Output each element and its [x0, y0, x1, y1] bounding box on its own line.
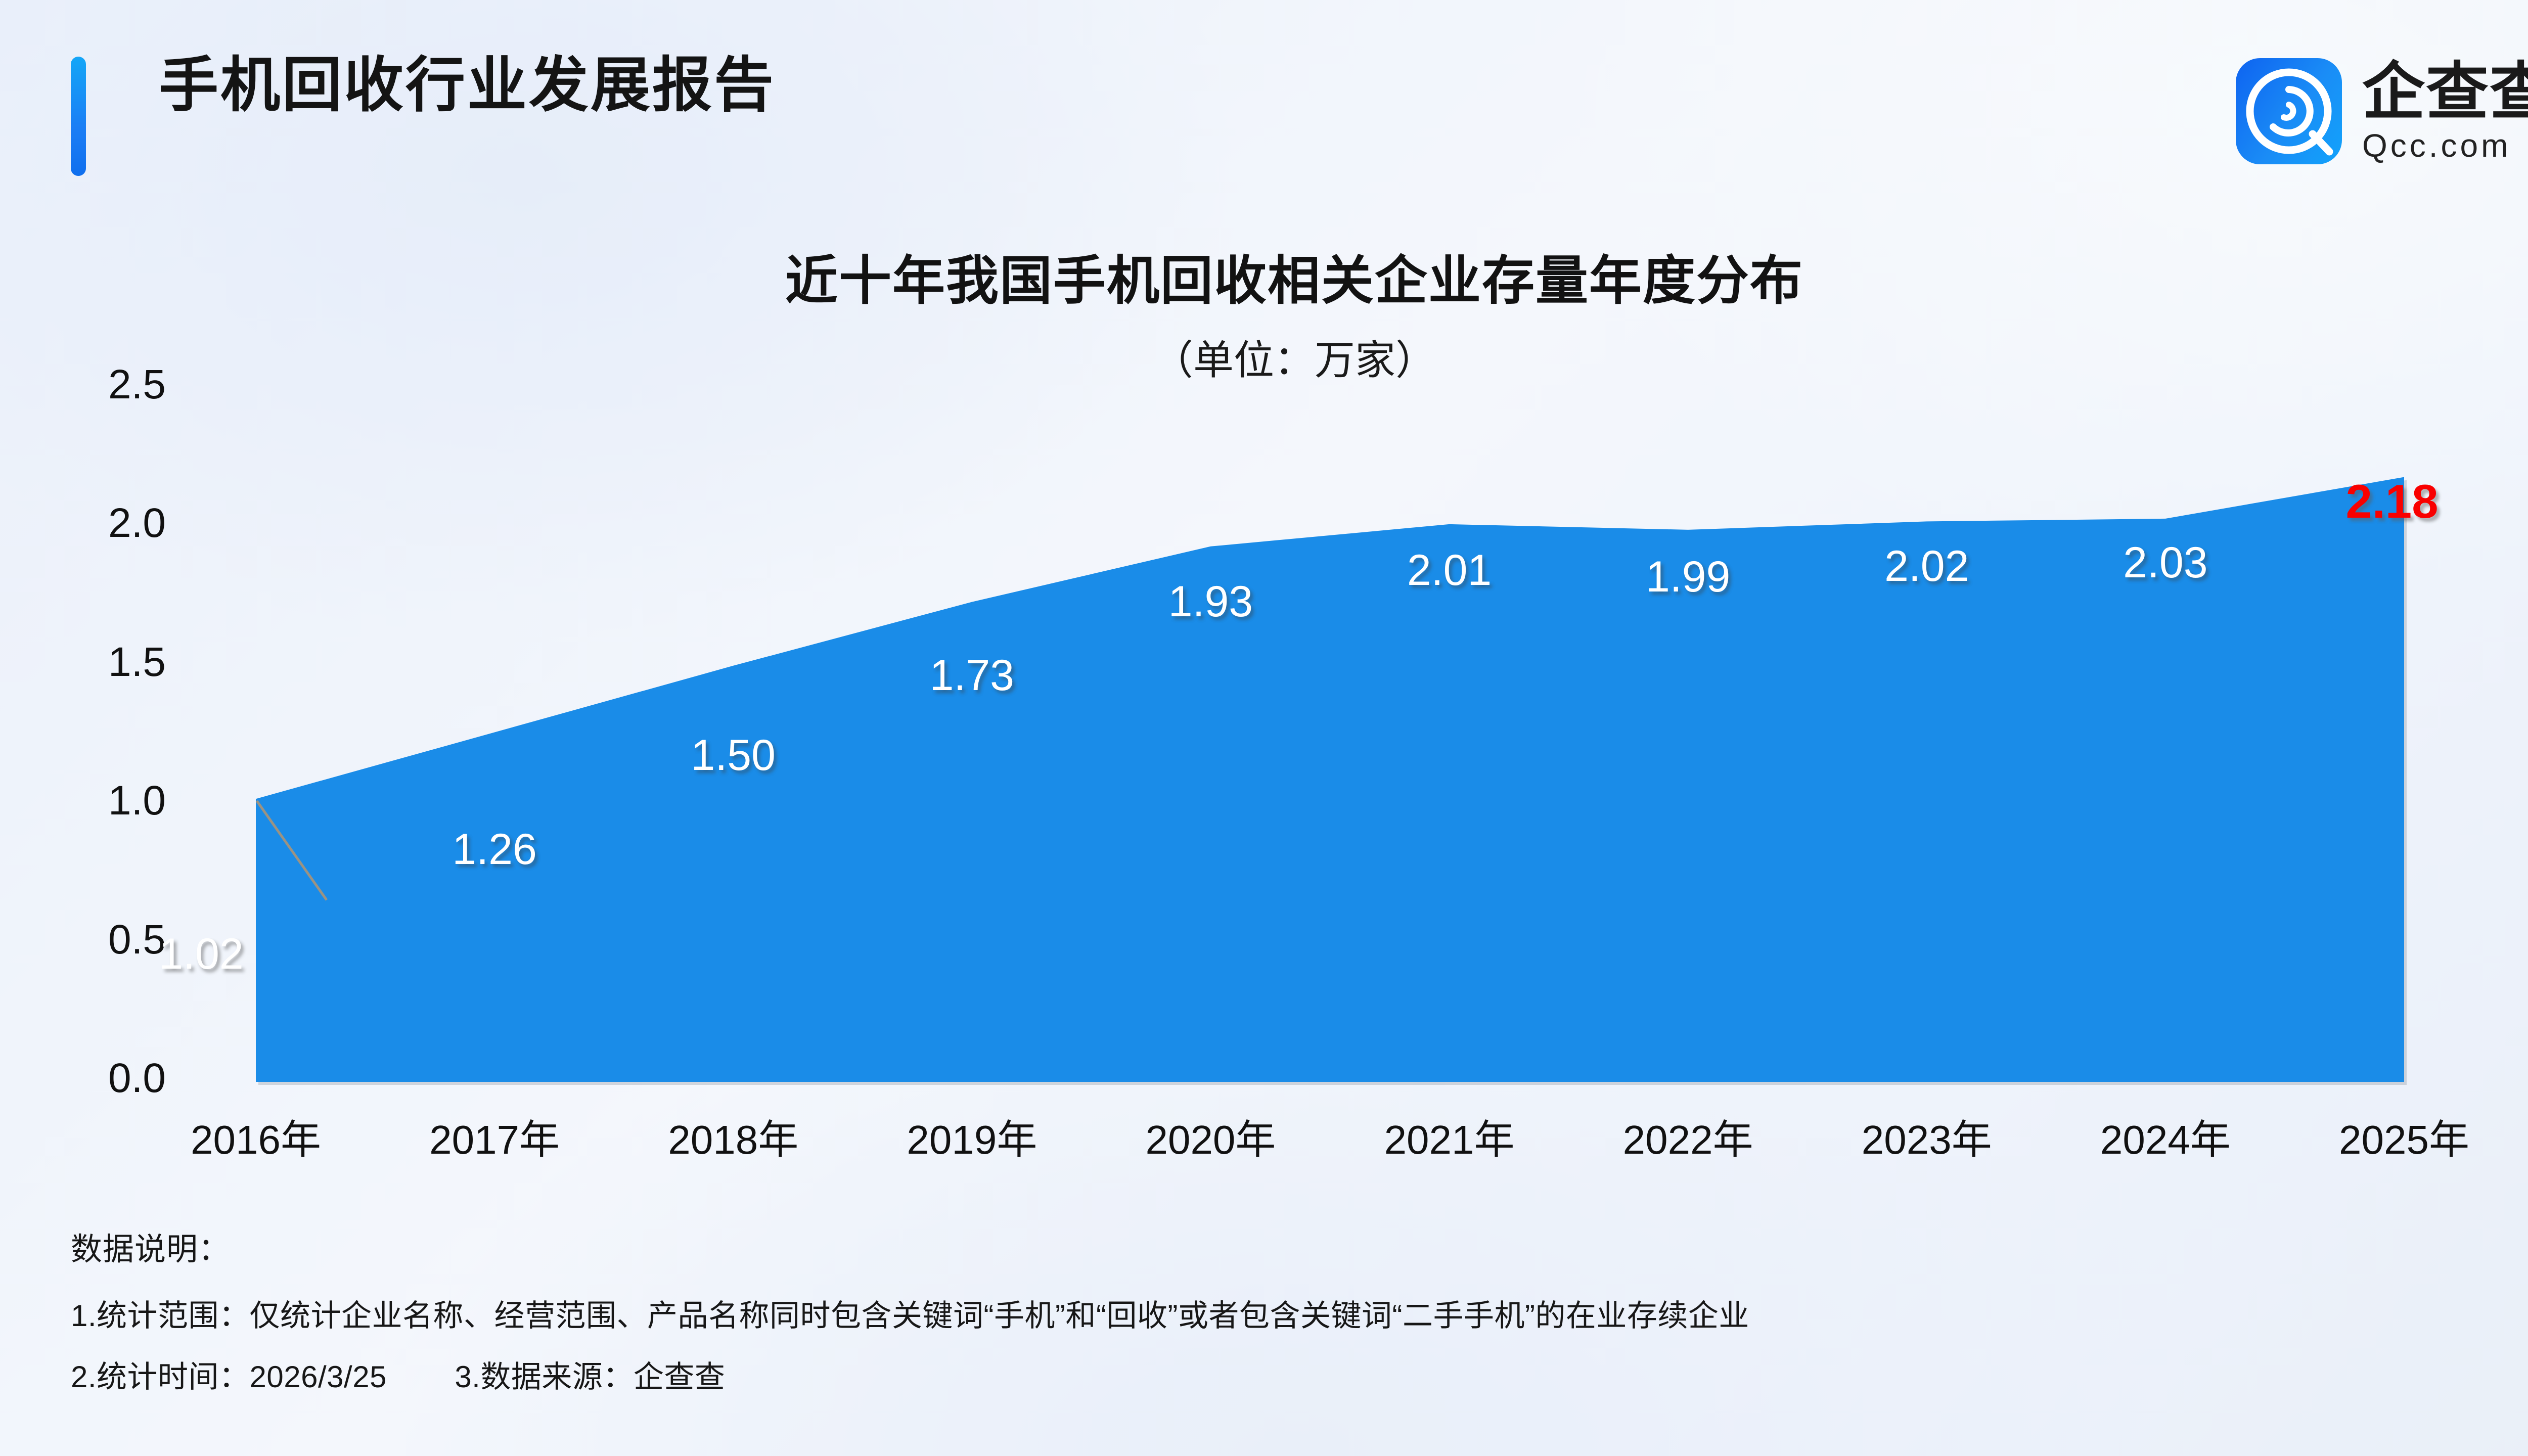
data-value-label: 1.99 — [1646, 552, 1730, 602]
x-axis-tick-label: 2020年 — [1145, 1107, 1276, 1166]
data-value-label: 2.18 — [2346, 474, 2439, 529]
x-axis-tick-label: 2025年 — [2339, 1107, 2469, 1166]
x-axis-tick-label: 2023年 — [1862, 1107, 1992, 1166]
note-statistic-time: 2.统计时间：2026/3/25 — [71, 1352, 387, 1396]
data-value-label: 2.01 — [1407, 545, 1492, 596]
data-value-label: 1.73 — [930, 651, 1014, 701]
data-value-label: 1.93 — [1168, 577, 1253, 627]
area-series-fill — [256, 477, 2404, 1082]
y-axis-tick-label: 2.5 — [108, 361, 166, 408]
y-axis-tick-label: 1.5 — [108, 639, 166, 686]
page-header: 手机回收行业发展报告 企查查 Qcc.com — [0, 0, 2528, 202]
y-axis-tick-label: 0.5 — [108, 916, 166, 964]
y-axis-tick-label: 1.0 — [108, 777, 166, 825]
notes-heading: 数据说明： — [71, 1223, 2523, 1269]
data-value-label: 1.26 — [452, 825, 536, 875]
brand-logo-text: 企查查 Qcc.com — [2362, 59, 2528, 164]
data-value-label: 2.03 — [2123, 538, 2207, 588]
y-axis-tick-label: 2.0 — [108, 499, 166, 547]
data-value-label: 1.02 — [159, 929, 243, 979]
x-axis-tick-label: 2019年 — [907, 1107, 1037, 1166]
y-axis-tick-label: 0.0 — [108, 1055, 166, 1102]
note-scope: 1.统计范围：仅统计企业名称、经营范围、产品名称同时包含关键词“手机”和“回收”… — [71, 1291, 2523, 1335]
brand-domain: Qcc.com — [2362, 128, 2528, 163]
area-shadow — [258, 480, 2407, 1085]
data-notes: 数据说明： 1.统计范围：仅统计企业名称、经营范围、产品名称同时包含关键词“手机… — [71, 1223, 2523, 1414]
x-axis-tick-label: 2022年 — [1623, 1107, 1753, 1166]
note-time-and-source: 2.统计时间：2026/3/25 3.数据来源：企查查 — [71, 1352, 2523, 1396]
qcc-spiral-q-logo-icon — [2236, 58, 2342, 164]
x-axis-tick-label: 2018年 — [668, 1107, 798, 1166]
x-axis-tick-label: 2017年 — [429, 1107, 560, 1166]
page-title: 手机回收行业发展报告 — [159, 56, 776, 115]
chart-subtitle: （单位：万家） — [0, 328, 2528, 386]
x-axis-tick-label: 2016年 — [191, 1107, 321, 1166]
x-axis-tick-label: 2024年 — [2100, 1107, 2231, 1166]
first-point-leader-line — [257, 801, 327, 900]
x-axis-tick-label: 2021年 — [1384, 1107, 1515, 1166]
note-data-source: 3.数据来源：企查查 — [455, 1352, 725, 1396]
chart-title: 近十年我国手机回收相关企业存量年度分布 — [0, 238, 2528, 314]
brand-logo[interactable]: 企查查 Qcc.com — [2236, 58, 2528, 164]
title-accent-bar — [71, 57, 86, 176]
data-value-label: 1.50 — [691, 731, 776, 781]
brand-name-cn: 企查查 — [2362, 59, 2528, 125]
data-value-label: 2.02 — [1884, 541, 1969, 591]
